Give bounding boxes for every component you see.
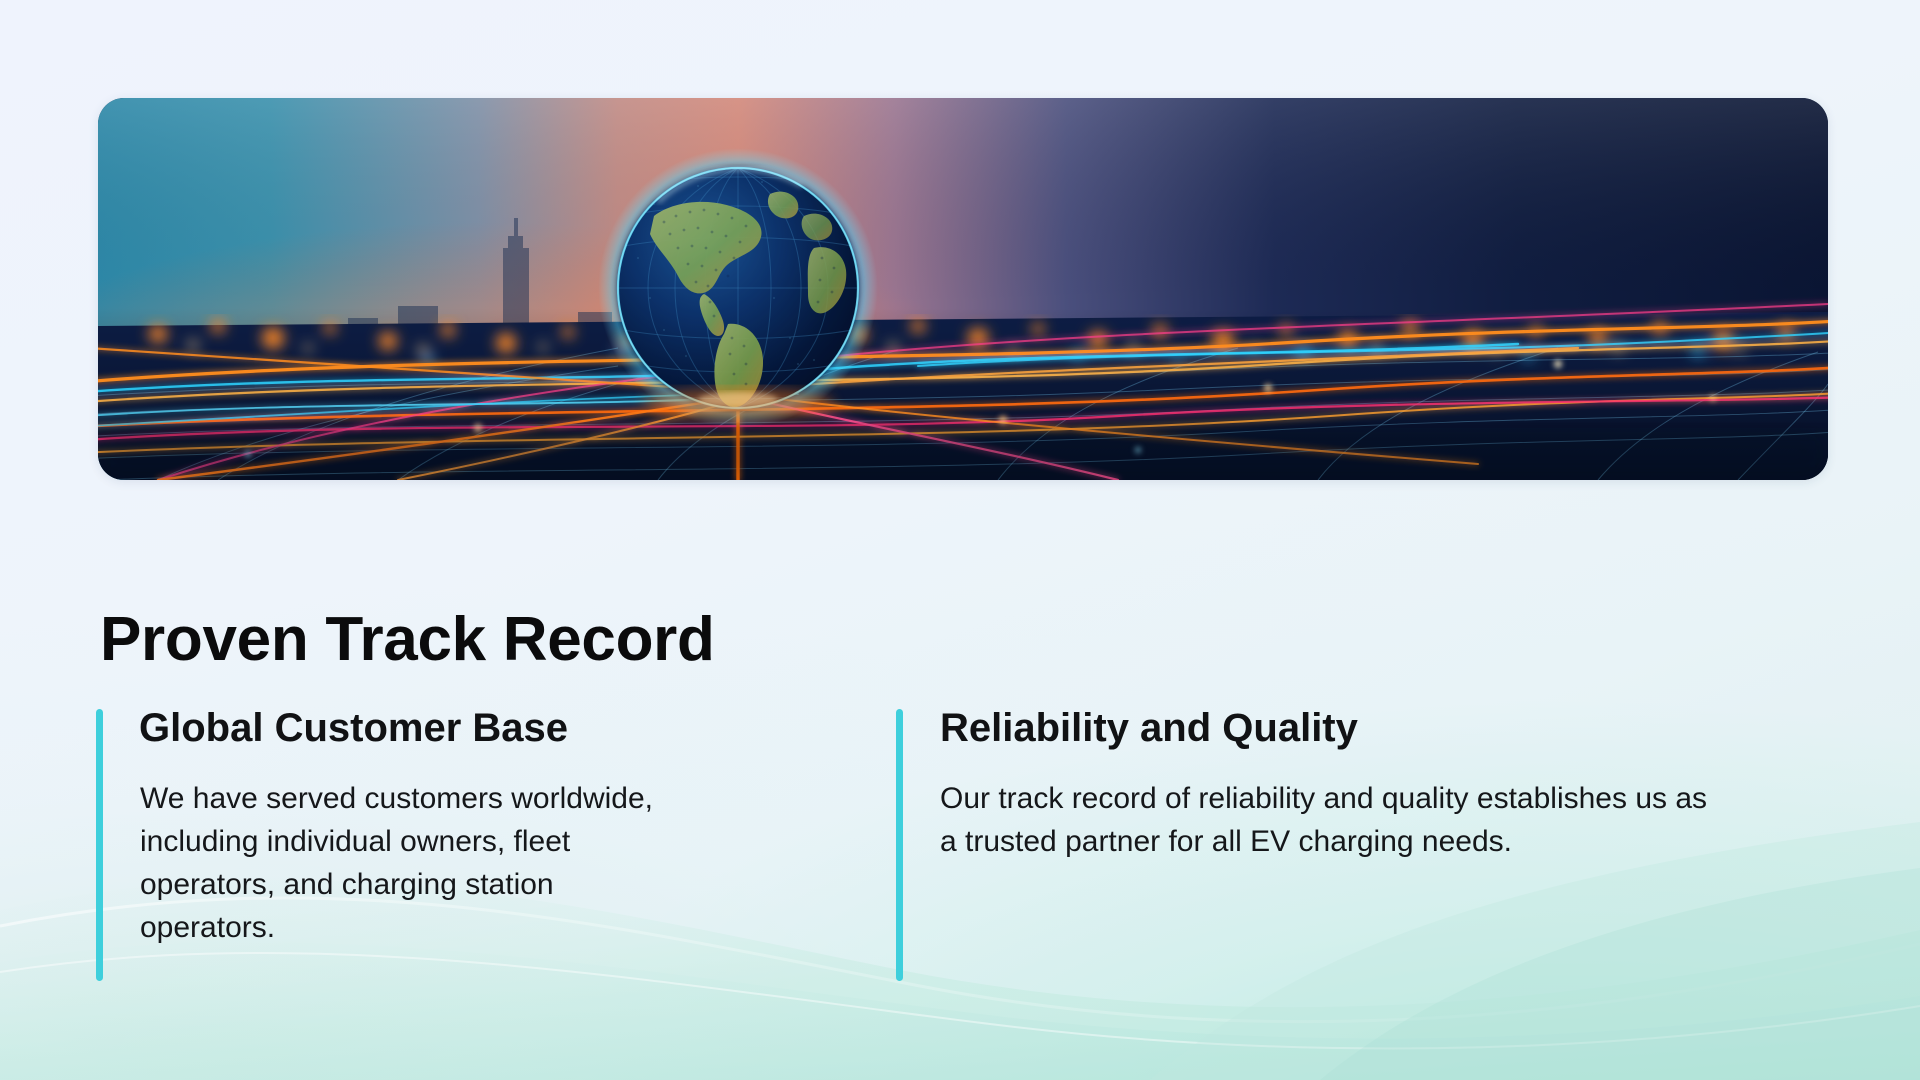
page-title: Proven Track Record xyxy=(100,607,715,673)
accent-bar-left xyxy=(96,709,103,981)
feature-columns: Global Customer Base We have served cust… xyxy=(96,706,1836,950)
feature-heading-right: Reliability and Quality xyxy=(940,706,1726,751)
accent-bar-right xyxy=(896,709,903,981)
feature-body-right: Our track record of reliability and qual… xyxy=(940,777,1726,863)
feature-heading-left: Global Customer Base xyxy=(139,706,786,751)
hero-network-globe-illustration xyxy=(98,98,1828,480)
feature-body-left: We have served customers worldwide, incl… xyxy=(140,777,670,950)
feature-column-global-customer-base: Global Customer Base We have served cust… xyxy=(96,706,786,950)
feature-column-reliability-and-quality: Reliability and Quality Our track record… xyxy=(896,706,1726,950)
slide-root: Proven Track Record Global Customer Base… xyxy=(0,0,1920,1080)
hero-banner-image xyxy=(98,98,1828,480)
